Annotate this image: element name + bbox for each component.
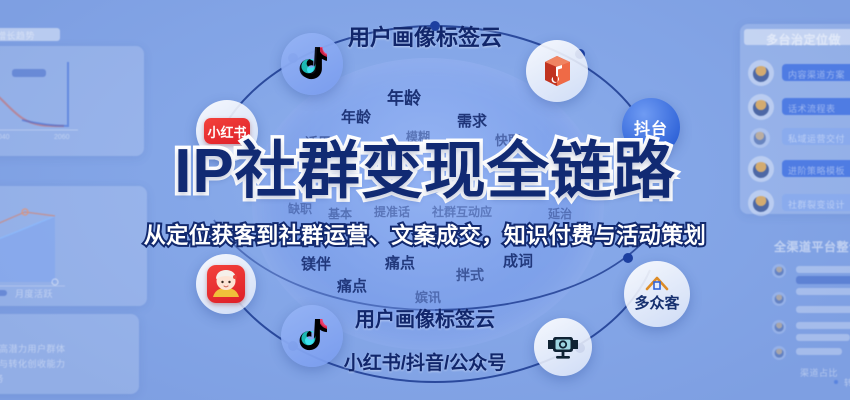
bar <box>796 288 850 295</box>
page-title: IP社群变现全链路 <box>0 141 850 203</box>
tag-cloud-word: 年龄 <box>387 84 421 109</box>
tag-cloud-word: 年龄 <box>341 106 371 127</box>
right-panel-row-0: 内容渠道方案 <box>788 68 845 81</box>
caption-top: 用户画像标签云 <box>0 20 850 52</box>
axis-label-2: 2040 <box>0 134 10 141</box>
tiktok-note-icon <box>297 47 327 81</box>
node-label-douyin-platform: 抖台 <box>634 115 668 139</box>
caption-bottom: 小红书/抖音/公众号 <box>0 348 850 375</box>
tag-cloud-word: 拌式 <box>456 265 484 285</box>
poster-canvas: 用户增长趋势 633 2000 2020 2040 2060 6.00 4.00… <box>0 0 850 400</box>
caption-middle: 用户画像标签云 <box>0 303 850 332</box>
tag-cloud-word: 需求 <box>457 110 487 131</box>
girl-avatar-icon <box>207 265 245 303</box>
tag-cloud-word: 成词 <box>503 250 533 271</box>
area-legend-swatch <box>0 290 7 296</box>
area-legend-label: 月度活跃 <box>15 287 53 300</box>
tag-cloud-word: 痛点 <box>385 252 415 273</box>
axis-label-3: 2060 <box>54 134 70 141</box>
music-note-cube-icon <box>539 53 575 89</box>
avatar <box>748 94 774 120</box>
tag-cloud-word: 痛点 <box>337 275 367 296</box>
avatar <box>748 60 774 86</box>
girl-face-glyph <box>207 265 245 303</box>
page-subtitle: 从定位获客到社群运营、文案成交，知识付费与活动策划 <box>0 218 850 250</box>
right-panel-row-1: 话术流程表 <box>788 102 836 115</box>
right-bottom-legend-1: 转化占比 <box>844 376 850 389</box>
bar <box>796 266 850 273</box>
house-arrow-icon <box>645 275 669 291</box>
bar <box>796 276 850 284</box>
bar <box>796 334 850 341</box>
list-icon <box>772 264 786 278</box>
legend-dot <box>834 380 838 384</box>
tag-cloud-word: 镁伴 <box>301 253 331 274</box>
